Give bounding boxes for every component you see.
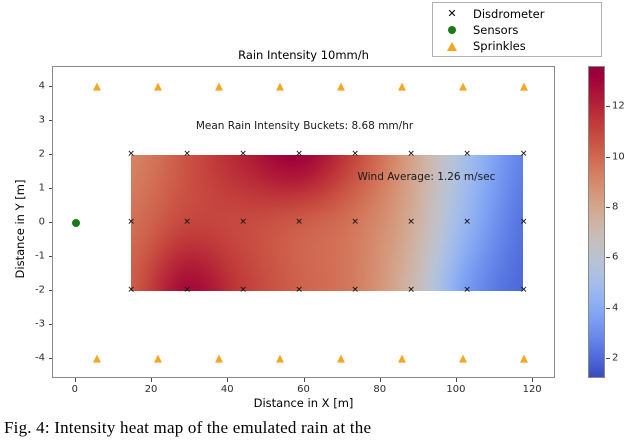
disdrometer-marker: ✕ (351, 219, 359, 228)
mean-rain-intensity-annotation: Mean Rain Intensity Buckets: 8.68 mm/hr (196, 120, 413, 132)
sprinkler-marker (154, 83, 162, 91)
sprinkler-marker (276, 83, 284, 91)
x-tick-label: 60 (297, 384, 310, 395)
legend-label-disdrometer: Disdrometer (473, 6, 544, 22)
y-tick-mark (49, 188, 53, 189)
y-tick-mark (49, 120, 53, 121)
disdrometer-marker: ✕ (520, 219, 528, 228)
colorbar-tick-label: 10 (612, 151, 625, 162)
disdrometer-marker: ✕ (127, 286, 135, 295)
disdrometer-marker: ✕ (295, 219, 303, 228)
x-tick-mark (380, 378, 381, 382)
x-marker-icon: ✕ (439, 6, 465, 22)
sprinkler-marker (398, 83, 406, 91)
y-tick-mark (49, 324, 53, 325)
disdrometer-marker: ✕ (407, 219, 415, 228)
x-tick-label: 80 (373, 384, 386, 395)
disdrometer-marker: ✕ (463, 151, 471, 160)
x-tick-label: 40 (221, 384, 234, 395)
y-axis-label: Distance in Y [m] (13, 149, 27, 309)
disdrometer-marker: ✕ (407, 151, 415, 160)
x-tick-label: 100 (446, 384, 465, 395)
sprinkler-marker (459, 83, 467, 91)
disdrometer-marker: ✕ (239, 151, 247, 160)
sprinkler-marker (93, 354, 101, 362)
plot-title: Rain Intensity 10mm/h (52, 48, 555, 62)
sprinkler-marker (337, 354, 345, 362)
colorbar-tick-mark (606, 308, 610, 309)
y-tick-mark (49, 222, 53, 223)
y-tick-label: -4 (14, 352, 45, 363)
disdrometer-marker: ✕ (351, 151, 359, 160)
y-tick-label: -3 (14, 318, 45, 329)
figure-canvas: ✕ Disdrometer Sensors Sprinkles Rain Int… (0, 0, 640, 414)
colorbar-tick-label: 8 (612, 201, 618, 212)
figure-caption: Fig. 4: Intensity heat map of the emulat… (0, 418, 640, 438)
disdrometer-marker: ✕ (183, 151, 191, 160)
colorbar-tick-mark (606, 257, 610, 258)
disdrometer-marker: ✕ (183, 219, 191, 228)
disdrometer-marker: ✕ (183, 286, 191, 295)
colorbar-tick-label: 12 (612, 101, 625, 112)
y-tick-label: 4 (14, 81, 45, 92)
colorbar-tick-mark (606, 106, 610, 107)
x-tick-mark (151, 378, 152, 382)
y-tick-mark (49, 256, 53, 257)
y-tick-label: 3 (14, 115, 45, 126)
x-axis-label: Distance in X [m] (52, 396, 555, 410)
plot-axes: ✕✕✕✕✕✕✕✕✕✕✕✕✕✕✕✕✕✕✕✕✕✕✕✕ Mean Rain Inten… (52, 66, 555, 378)
sprinkler-marker (337, 83, 345, 91)
x-tick-mark (456, 378, 457, 382)
colorbar-tick-mark (606, 358, 610, 359)
colorbar-tick-mark (606, 207, 610, 208)
x-tick-label: 120 (523, 384, 542, 395)
x-tick-label: 20 (145, 384, 158, 395)
colorbar-tick-label: 4 (612, 302, 618, 313)
y-tick-mark (49, 154, 53, 155)
sprinkler-marker (459, 354, 467, 362)
x-tick-label: 0 (72, 384, 78, 395)
x-tick-mark (304, 378, 305, 382)
circle-marker-icon (439, 22, 465, 38)
disdrometer-marker: ✕ (520, 286, 528, 295)
y-tick-mark (49, 86, 53, 87)
sprinkler-marker (93, 83, 101, 91)
disdrometer-marker: ✕ (463, 219, 471, 228)
sensor-marker (72, 219, 80, 227)
disdrometer-marker: ✕ (127, 219, 135, 228)
sprinkler-marker (398, 354, 406, 362)
y-tick-mark (49, 358, 53, 359)
legend-item-disdrometer: ✕ Disdrometer (439, 6, 595, 22)
x-tick-mark (227, 378, 228, 382)
sprinkler-marker (215, 354, 223, 362)
legend-label-sensors: Sensors (473, 22, 518, 38)
disdrometer-marker: ✕ (407, 286, 415, 295)
disdrometer-marker: ✕ (295, 151, 303, 160)
colorbar-tick-mark (606, 157, 610, 158)
y-tick-mark (49, 290, 53, 291)
sprinkler-marker (520, 83, 528, 91)
colorbar-tick-label: 6 (612, 252, 618, 263)
x-tick-mark (75, 378, 76, 382)
colorbar (588, 66, 605, 378)
sprinkler-marker (154, 354, 162, 362)
disdrometer-marker: ✕ (295, 286, 303, 295)
legend-item-sensors: Sensors (439, 22, 595, 38)
sprinkler-marker (520, 354, 528, 362)
x-tick-mark (532, 378, 533, 382)
disdrometer-marker: ✕ (239, 286, 247, 295)
disdrometer-marker: ✕ (239, 219, 247, 228)
disdrometer-marker: ✕ (463, 286, 471, 295)
disdrometer-marker: ✕ (351, 286, 359, 295)
sprinkler-marker (215, 83, 223, 91)
wind-average-annotation: Wind Average: 1.26 m/sec (357, 171, 495, 183)
disdrometer-marker: ✕ (520, 151, 528, 160)
sprinkler-marker (276, 354, 284, 362)
colorbar-tick-label: 2 (612, 352, 618, 363)
disdrometer-marker: ✕ (127, 151, 135, 160)
